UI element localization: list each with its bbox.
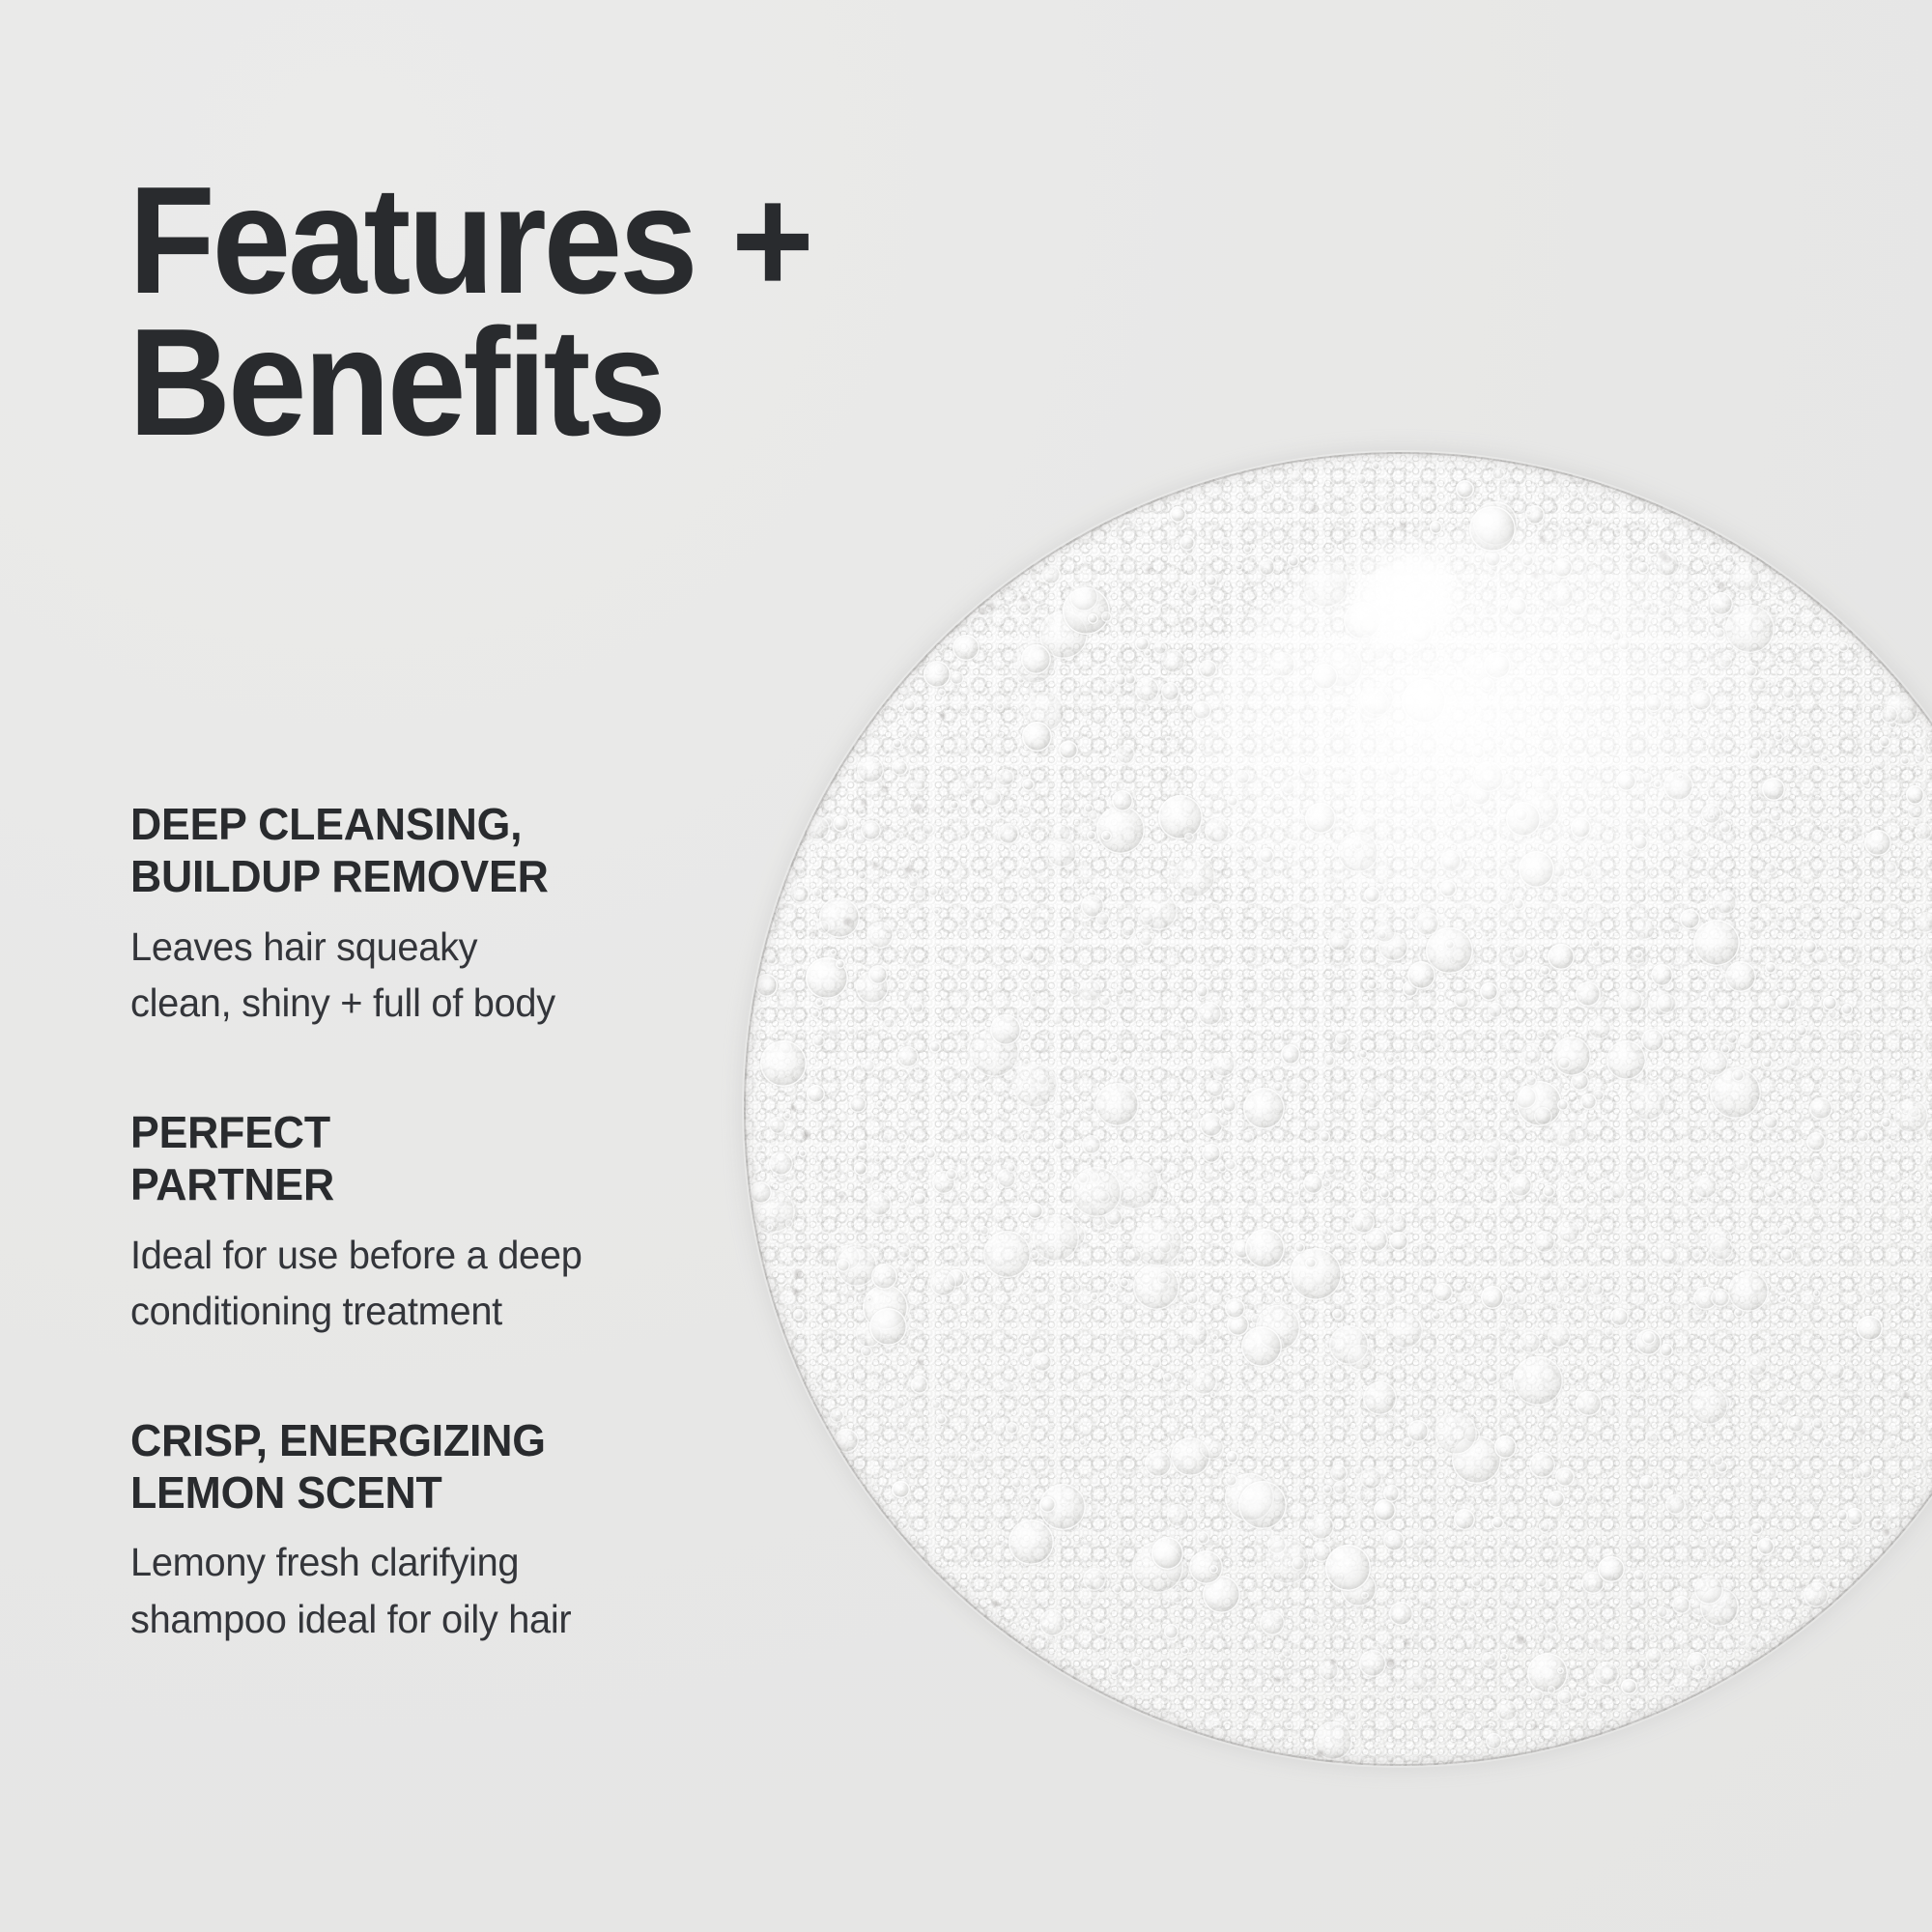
foam-bubble	[1009, 590, 1015, 596]
foam-bubble	[1578, 1690, 1588, 1699]
foam-bubble	[1220, 537, 1231, 548]
foam-bubble	[1021, 644, 1051, 674]
foam-bubble	[1385, 579, 1393, 586]
foam-bubble	[1153, 641, 1167, 655]
foam-bubble	[1400, 1095, 1407, 1103]
foam-bubble	[1559, 888, 1570, 898]
foam-fleck	[1757, 1567, 1764, 1574]
foam-bubble	[1197, 1324, 1205, 1332]
foam-bubble	[1235, 562, 1244, 572]
foam-bubble	[1654, 780, 1662, 788]
foam-bubble	[1027, 1203, 1043, 1219]
foam-fleck	[1870, 664, 1874, 668]
foam-bubble	[1292, 1557, 1305, 1571]
foam-bubble	[1513, 898, 1525, 911]
foam-bubble	[1273, 1082, 1284, 1093]
foam-bubble	[1532, 759, 1544, 771]
foam-bubble	[1158, 795, 1203, 839]
foam-bubble	[858, 871, 867, 880]
foam-bubble	[1127, 1248, 1142, 1263]
foam-bubble	[1260, 1610, 1285, 1635]
foam-bubble	[1069, 582, 1098, 611]
foam-bubble	[1206, 1345, 1216, 1355]
foam-bubble	[1353, 841, 1363, 851]
foam-bubble	[1601, 1569, 1613, 1581]
foam-bubble	[1473, 761, 1504, 792]
foam-bubble	[1605, 1327, 1614, 1337]
foam-fleck	[1517, 1636, 1525, 1645]
foam-bubble	[1205, 818, 1230, 843]
foam-bubble	[1546, 1623, 1557, 1634]
foam-bubble	[1135, 637, 1150, 651]
feature-title: CRISP, ENERGIZING LEMON SCENT	[130, 1414, 730, 1520]
foam-bubble	[1659, 1245, 1679, 1265]
foam-bubble	[1514, 1086, 1537, 1109]
foam-bubble	[1374, 1499, 1396, 1521]
foam-bubble	[1796, 1025, 1807, 1037]
specular-highlight	[1333, 535, 1481, 672]
foam-bubble	[856, 971, 889, 1004]
foam-bubble	[1774, 732, 1782, 741]
foam-bubble	[1433, 1038, 1442, 1048]
foam-bubble	[1505, 1586, 1514, 1595]
foam-bubble	[1282, 781, 1295, 795]
foam-bubble	[1407, 618, 1433, 643]
foam-bubble	[1349, 1243, 1358, 1253]
foam-bubble	[1614, 1688, 1621, 1694]
foam-bubble	[868, 965, 888, 984]
foam-bubble	[977, 1086, 983, 1093]
foam-bubble	[1744, 953, 1754, 964]
foam-bubble	[1101, 611, 1112, 622]
foam-bubble	[1776, 995, 1791, 1010]
foam-bubble	[1360, 1467, 1382, 1490]
foam-bubble	[1028, 638, 1039, 649]
foam-bubble	[1440, 848, 1463, 870]
foam-bubble	[1911, 1477, 1918, 1484]
foam-bubble	[1101, 831, 1112, 841]
foam-bubble	[1445, 940, 1455, 950]
foam-bubble	[1583, 515, 1594, 526]
foam-fleck	[851, 859, 853, 861]
feature-item-perfect-partner: PERFECT PARTNER Ideal for use before a d…	[130, 1106, 749, 1339]
foam-bubble	[1915, 823, 1932, 840]
foam-bubble	[871, 1264, 897, 1290]
foam-bubble	[893, 1398, 905, 1410]
foam-bubble	[1663, 771, 1693, 801]
foam-bubble	[1165, 1398, 1175, 1407]
foam-bubble	[847, 1027, 855, 1035]
foam-bubble	[1798, 736, 1811, 750]
foam-bubble	[1503, 935, 1511, 943]
foam-bubble	[1725, 961, 1756, 992]
foam-bubble	[1293, 1189, 1300, 1197]
foam-bubble	[1200, 1113, 1224, 1137]
foam-bubble	[1464, 1427, 1480, 1442]
foam-bubble	[1187, 1269, 1199, 1281]
foam-bubble	[1557, 1220, 1580, 1243]
foam-bubble	[1886, 1438, 1897, 1450]
foam-bubble	[1335, 1033, 1349, 1046]
foam-fleck	[1860, 1429, 1865, 1435]
foam-bubble	[1482, 1056, 1488, 1062]
foam-bubble	[783, 1112, 791, 1120]
foam-bubble	[1179, 1146, 1189, 1155]
foam-bubble	[1225, 1159, 1236, 1171]
feature-description: Lemony fresh clarifying shampoo ideal fo…	[130, 1534, 730, 1646]
foam-bubble	[1172, 1592, 1183, 1604]
foam-fleck	[971, 800, 975, 804]
foam-bubble	[1383, 1485, 1401, 1502]
foam-bubble	[928, 887, 938, 896]
foam-bubble	[1823, 1438, 1833, 1448]
foam-bubble	[1094, 715, 1102, 723]
foam-bubble	[1726, 793, 1734, 801]
foam-bubble	[1419, 548, 1428, 556]
foam-bubble	[1314, 1721, 1353, 1761]
foam-bubble	[1585, 1493, 1594, 1502]
foam-bubble	[827, 1331, 836, 1340]
foam-bubble	[1250, 951, 1257, 957]
foam-bubble	[1551, 863, 1567, 878]
foam-bubble	[1539, 1065, 1546, 1072]
foam-bubble	[834, 1429, 858, 1453]
foam-bubble	[1494, 1435, 1518, 1459]
foam-bubble	[1177, 1254, 1186, 1264]
foam-bubble	[1267, 1414, 1276, 1423]
foam-bubble	[1702, 1512, 1715, 1524]
foam-bubble	[861, 1059, 875, 1073]
foam-fleck	[1593, 1638, 1600, 1645]
foam-bubble	[1716, 1461, 1728, 1473]
foam-bubble	[1689, 1591, 1715, 1617]
foam-bubble	[1398, 1417, 1406, 1425]
foam-bubble	[1308, 1514, 1334, 1540]
foam-bubble	[1851, 909, 1863, 922]
foam-bubble	[1093, 1215, 1104, 1227]
foam-bubble	[1464, 1122, 1474, 1132]
foam-bubble	[1673, 1264, 1683, 1274]
foam-bubble	[1609, 1183, 1626, 1200]
foam-bubble	[1809, 1097, 1833, 1121]
foam-bubble	[1485, 608, 1492, 615]
foam-bubble	[1852, 1074, 1863, 1086]
foam-bubble	[1468, 782, 1492, 806]
foam-bubble	[1853, 1469, 1863, 1480]
foam-bubble	[1003, 1381, 1015, 1394]
foam-bubble	[903, 698, 917, 712]
foam-bubble	[1197, 1531, 1210, 1545]
foam-bubble	[1693, 920, 1740, 966]
foam-bubble	[1811, 1170, 1825, 1183]
foam-bubble	[1361, 1592, 1369, 1600]
foam-bubble	[837, 1246, 877, 1287]
foam-bubble	[1407, 582, 1424, 598]
foam-bubble	[785, 1219, 794, 1228]
foam-bubble	[972, 1549, 981, 1559]
foam-bubble	[1668, 1686, 1675, 1692]
foam-bubble	[1209, 1045, 1216, 1052]
foam-bubble	[1557, 1099, 1569, 1111]
foam-bubble	[1051, 1125, 1058, 1132]
foam-bubble	[862, 1174, 873, 1185]
foam-bubble	[1782, 687, 1796, 700]
foam-bubble	[1374, 921, 1396, 943]
foam-bubble	[1534, 1107, 1552, 1125]
foam-bubble	[1624, 551, 1634, 560]
foam-bubble	[1456, 480, 1474, 498]
foam-bubble	[1654, 1626, 1662, 1634]
product-foam-swatch-image	[744, 452, 1932, 1766]
foam-bubble	[1738, 1033, 1755, 1050]
foam-bubble	[1642, 1331, 1656, 1345]
foam-bubble	[1465, 1283, 1472, 1290]
foam-bubble	[1516, 1293, 1529, 1306]
foam-fleck	[918, 1359, 923, 1365]
foam-bubble	[1537, 1030, 1546, 1038]
foam-bubble	[1881, 706, 1898, 724]
foam-bubble	[1641, 1029, 1664, 1052]
foam-bubble	[1783, 737, 1790, 744]
foam-bubble	[780, 1042, 792, 1055]
foam-bubble	[1915, 912, 1932, 933]
foam-bubble	[1363, 1381, 1397, 1415]
foam-fleck	[1712, 542, 1716, 546]
foam-bubble	[990, 1014, 1021, 1045]
foam-bubble	[1560, 579, 1568, 586]
foam-bubble	[1369, 643, 1387, 662]
foam-bubble	[1746, 1354, 1768, 1377]
foam-bubble	[1386, 1055, 1395, 1064]
foam-bubble	[830, 1408, 844, 1423]
foam-bubble	[1355, 1051, 1363, 1059]
foam-bubble	[1100, 996, 1111, 1007]
foam-bubble	[1192, 701, 1211, 721]
foam-bubble	[913, 1193, 926, 1207]
foam-bubble	[928, 708, 934, 714]
foam-bubble	[1581, 1572, 1605, 1595]
foam-bubble	[1017, 676, 1025, 684]
foam-bubble	[1259, 848, 1274, 864]
foam-bubble	[1200, 1435, 1224, 1460]
foam-bubble	[1506, 853, 1518, 865]
foam-bubble	[1464, 654, 1492, 682]
foam-bubble	[1719, 655, 1732, 668]
foam-bubble	[1687, 1652, 1707, 1672]
foam-bubble	[1486, 1186, 1494, 1195]
foam-bubble	[1079, 980, 1102, 1003]
foam-bubble	[1289, 843, 1297, 852]
foam-bubble	[1105, 1208, 1122, 1226]
foam-bubble	[1334, 1005, 1341, 1011]
foam-bubble	[1069, 986, 1079, 996]
foam-bubble	[1211, 1053, 1236, 1077]
foam-bubble	[1548, 1491, 1565, 1508]
foam-bubble	[1367, 980, 1377, 989]
foam-disc	[744, 452, 1932, 1766]
foam-bubble	[911, 1376, 928, 1393]
foam-bubble	[1242, 1132, 1254, 1144]
foam-bubble	[1914, 1300, 1922, 1309]
foam-fleck	[1928, 886, 1930, 888]
foam-bubble	[1157, 1273, 1170, 1286]
foam-bubble	[1291, 935, 1299, 944]
foam-bubble	[1695, 680, 1702, 687]
foam-fleck	[1800, 1584, 1804, 1589]
foam-bubble	[1837, 1510, 1848, 1520]
foam-bubble	[1458, 1596, 1470, 1608]
foam-bubble	[1322, 1485, 1333, 1495]
foam-bubble	[1039, 1484, 1086, 1530]
foam-bubble	[1151, 1162, 1164, 1175]
foam-bubble	[1828, 1009, 1838, 1019]
foam-bubble	[1139, 1057, 1146, 1064]
foam-bubble	[1227, 796, 1238, 808]
foam-bubble	[1525, 505, 1545, 525]
foam-bubble	[1095, 1083, 1139, 1126]
foam-bubble	[1906, 785, 1925, 805]
foam-bubble	[1901, 1446, 1910, 1455]
foam-fleck	[847, 1293, 854, 1299]
foam-bubble	[1577, 1276, 1589, 1289]
foam-bubble	[1409, 808, 1416, 814]
foam-bubble	[1509, 886, 1517, 894]
foam-bubble	[1440, 850, 1463, 872]
foam-bubble	[1346, 697, 1352, 704]
foam-bubble	[1325, 1338, 1337, 1350]
foam-bubble	[1483, 1148, 1499, 1164]
foam-fleck	[805, 1244, 810, 1250]
foam-bubble	[1225, 1473, 1273, 1521]
foam-bubble	[904, 1261, 918, 1274]
foam-bubble	[1347, 1562, 1354, 1570]
foam-bubble	[1031, 992, 1037, 998]
foam-bubble	[1555, 914, 1562, 921]
foam-bubble	[1294, 1242, 1305, 1253]
foam-bubble	[1496, 1700, 1518, 1721]
foam-bubble	[936, 1508, 943, 1515]
foam-bubble	[1554, 1388, 1560, 1394]
foam-bubble	[833, 815, 850, 833]
foam-bubble	[1135, 677, 1159, 701]
foam-bubble	[1480, 982, 1498, 1001]
foam-bubble	[1767, 681, 1773, 687]
foam-bubble	[1694, 1576, 1723, 1605]
foam-bubble	[968, 1316, 975, 1322]
foam-bubble	[1481, 1286, 1504, 1309]
foam-bubble	[861, 820, 881, 840]
foam-bubble	[1331, 716, 1340, 724]
foam-bubble	[1665, 718, 1672, 724]
foam-bubble	[1371, 1641, 1378, 1648]
foam-bubble	[1781, 1199, 1790, 1207]
foam-bubble	[931, 1400, 940, 1408]
foam-bubble	[753, 1190, 795, 1233]
foam-bubble	[1464, 668, 1472, 676]
foam-bubble	[1506, 1145, 1520, 1158]
foam-fleck	[810, 929, 818, 938]
foam-bubble	[1706, 1226, 1732, 1252]
foam-bubble	[1095, 912, 1110, 926]
foam-bubble	[1504, 1294, 1513, 1303]
foam-bubble	[1161, 682, 1179, 700]
foam-bubble	[1084, 804, 1094, 813]
foam-bubble	[1145, 1450, 1172, 1477]
foam-bubble	[1497, 1322, 1508, 1333]
foam-bubble	[812, 888, 822, 897]
foam-bubble	[943, 887, 952, 895]
foam-bubble	[1691, 1249, 1702, 1260]
foam-bubble	[1495, 737, 1505, 747]
foam-bubble	[1133, 1217, 1182, 1266]
foam-bubble	[1776, 914, 1786, 923]
foam-bubble	[1454, 993, 1470, 1009]
foam-bubble	[1558, 1058, 1571, 1070]
foam-bubble	[1433, 1283, 1452, 1302]
foam-bubble	[1519, 851, 1555, 888]
foam-bubble	[1533, 1231, 1555, 1253]
foam-bubble	[1518, 633, 1526, 641]
foam-micro-texture-secondary	[744, 452, 1932, 1766]
foam-bubble	[1535, 1576, 1548, 1588]
foam-bubble	[1039, 611, 1088, 659]
foam-bubble	[914, 1065, 920, 1071]
foam-bubble	[1330, 1464, 1349, 1483]
foam-bubble	[1688, 1471, 1695, 1479]
foam-bubble	[1023, 1059, 1030, 1065]
foam-bubble	[1047, 1441, 1056, 1450]
foam-bubble	[1251, 1314, 1262, 1324]
foam-bubble	[925, 1149, 936, 1159]
foam-bubble	[837, 1259, 850, 1272]
foam-bubble	[1529, 1452, 1555, 1478]
foam-bubble	[1226, 1451, 1238, 1463]
foam-bubble	[898, 1246, 912, 1260]
foam-bubble	[1548, 1686, 1555, 1693]
foam-fleck	[1630, 580, 1633, 582]
foam-bubble	[1595, 1641, 1606, 1653]
foam-bubble	[1348, 1345, 1374, 1371]
foam-bubble	[1747, 922, 1758, 932]
foam-bubble	[1591, 1284, 1604, 1296]
foam-fleck	[1459, 578, 1462, 581]
foam-fleck	[1405, 1640, 1410, 1646]
foam-bubble	[1426, 927, 1473, 975]
foam-bubble	[1747, 1141, 1754, 1148]
foam-bubble	[1887, 693, 1919, 725]
foam-bubble	[1915, 752, 1926, 763]
foam-bubble	[1407, 1420, 1430, 1442]
foam-bubble	[1325, 874, 1337, 886]
foam-bubble	[1053, 1139, 1065, 1151]
foam-bubble	[1429, 666, 1437, 674]
foam-bubble	[1432, 1311, 1442, 1321]
foam-bubble	[1196, 984, 1209, 998]
foam-bubble	[1582, 867, 1593, 878]
foam-bubble	[1725, 605, 1775, 654]
foam-bubble	[1404, 1667, 1428, 1691]
foam-fleck	[898, 1268, 901, 1271]
foam-bubble	[1778, 1225, 1790, 1236]
foam-bubble	[1822, 823, 1831, 832]
gel-disc-outer-glow	[742, 450, 1932, 1768]
foam-bubble	[1488, 570, 1496, 579]
foam-bubble	[1737, 1637, 1747, 1648]
foam-bubble	[938, 689, 946, 696]
foam-bubble	[1565, 526, 1573, 533]
specular-sheen	[1190, 531, 1795, 978]
foam-bubble	[1770, 810, 1782, 823]
